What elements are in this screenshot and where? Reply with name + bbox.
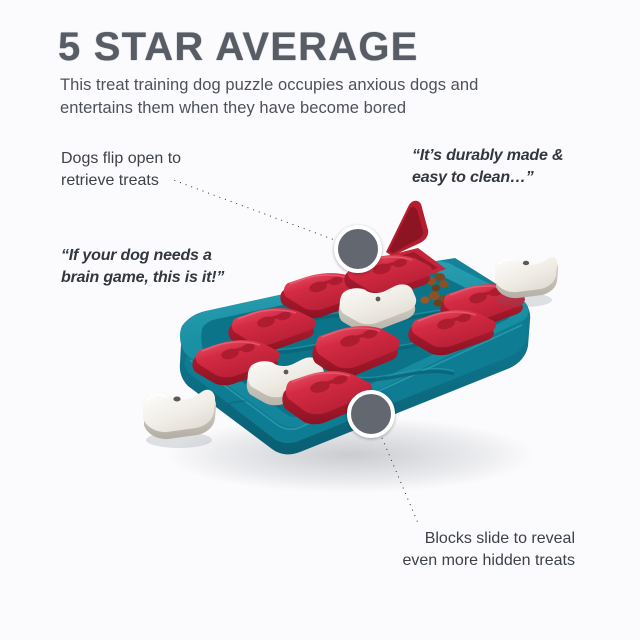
- callout-durable-quote: “It’s durably made & easy to clean…”: [412, 145, 592, 189]
- callout-blocks-slide: Blocks slide to reveal even more hidden …: [400, 528, 575, 572]
- page-subtitle: This treat training dog puzzle occupies …: [60, 74, 530, 121]
- page-title: 5 STAR AVERAGE: [58, 26, 528, 68]
- block-red-r3c4: [408, 310, 496, 355]
- flip-lid-outer-face: [386, 201, 428, 256]
- callout-brain-game-quote: “If your dog needs a brain game, this is…: [61, 245, 241, 289]
- opened-flip-lid: [374, 201, 446, 284]
- flip-lid-inner-face: [389, 207, 423, 253]
- infographic-canvas: 5 STAR AVERAGE This treat training dog p…: [0, 0, 640, 640]
- tray-floor-shadow: [165, 417, 535, 493]
- leader-line-blocks-slide: [380, 435, 421, 526]
- loose-white-block-left: [138, 382, 220, 452]
- loose-white-block-right: [488, 248, 560, 310]
- bottom-target-circle: [347, 390, 395, 438]
- block-red-r2c1: [228, 308, 316, 353]
- tray-brand-deboss: [228, 401, 246, 404]
- top-target-circle: [334, 225, 382, 273]
- tray-channels: [234, 312, 476, 383]
- treat-kibble-group: [334, 268, 449, 387]
- dotted-line: [380, 435, 421, 526]
- block-red-r3c1: [192, 340, 280, 385]
- block-white-r3c2: [247, 357, 324, 405]
- block-white-r2c2: [339, 284, 416, 332]
- flip-lid-rim: [374, 248, 446, 284]
- callout-dogs-flip-open: Dogs flip open to retrieve treats: [61, 148, 211, 192]
- block-red-r1c1: [280, 273, 368, 318]
- tray-channel-highlights: [234, 309, 476, 380]
- block-red-r3c3: [312, 326, 400, 377]
- flip-lid-well: [380, 252, 438, 280]
